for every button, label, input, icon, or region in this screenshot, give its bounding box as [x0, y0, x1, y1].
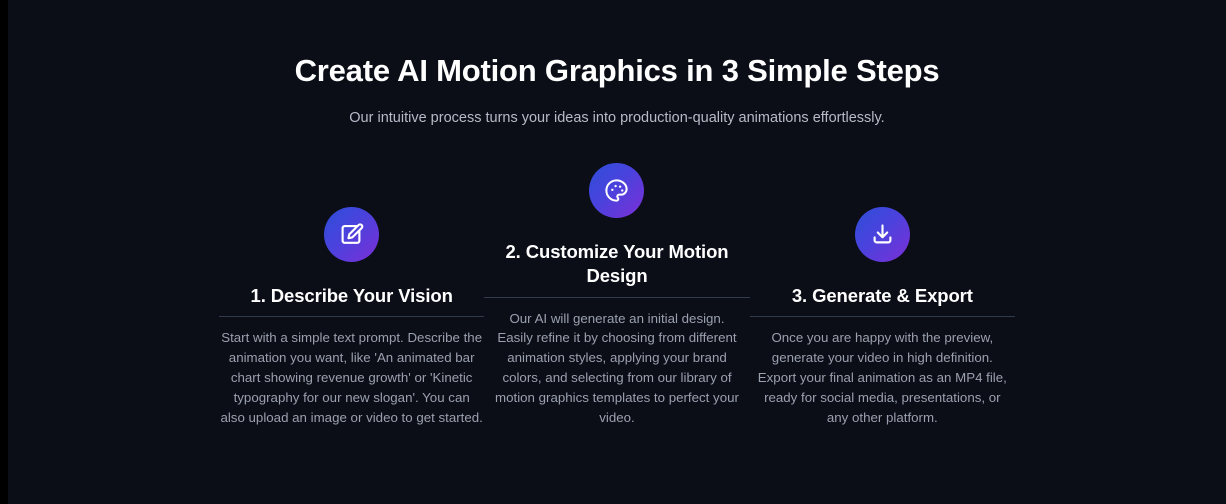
step-card-3: 3. Generate & Export Once you are happy …: [750, 207, 1015, 428]
page-root: Create AI Motion Graphics in 3 Simple St…: [8, 0, 1226, 504]
step-body-1: Start with a simple text prompt. Describ…: [219, 316, 484, 427]
step-icon-2: [589, 163, 644, 218]
step-icon-1: [324, 207, 379, 262]
step-heading-2: 2. Customize Your Motion Design: [484, 240, 749, 289]
step-heading-3: 3. Generate & Export: [788, 284, 977, 309]
page-subtitle: Our intuitive process turns your ideas i…: [8, 108, 1226, 130]
step-heading-1: 1. Describe Your Vision: [247, 284, 457, 309]
page-title: Create AI Motion Graphics in 3 Simple St…: [8, 52, 1226, 91]
edit-square-pencil-icon: [338, 221, 365, 248]
step-card-2: 2. Customize Your Motion Design Our AI w…: [484, 163, 749, 428]
step-icon-3: [855, 207, 910, 262]
step-card-1: 1. Describe Your Vision Start with a sim…: [219, 207, 484, 428]
step-body-3: Once you are happy with the preview, gen…: [750, 316, 1015, 427]
step-body-2: Our AI will generate an initial design. …: [484, 297, 749, 428]
palette-icon: [603, 177, 630, 204]
download-icon: [869, 221, 896, 248]
section-header: Create AI Motion Graphics in 3 Simple St…: [8, 0, 1226, 130]
steps-container: 1. Describe Your Vision Start with a sim…: [8, 163, 1226, 428]
